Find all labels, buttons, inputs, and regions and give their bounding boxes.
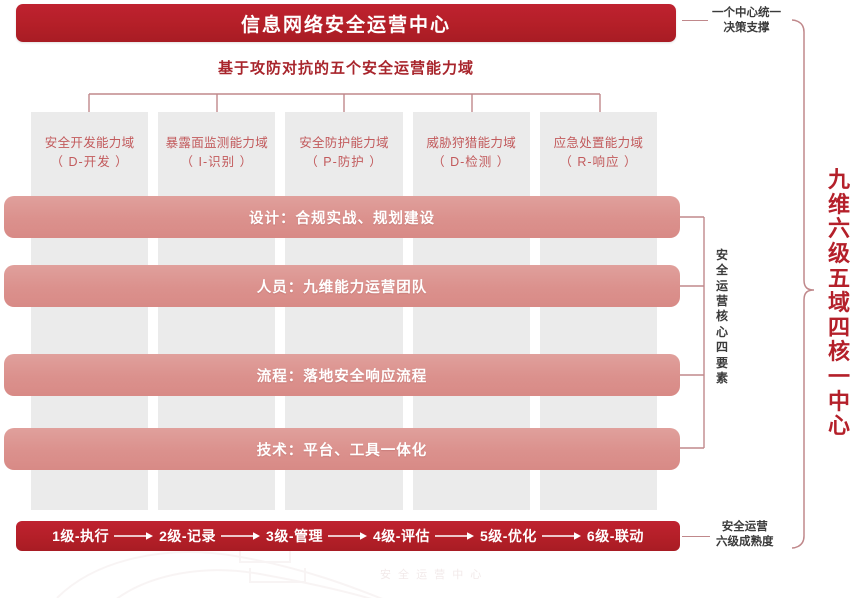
watermark-text: 安 全 运 营 中 心 [380,566,483,582]
center-connector-line [682,20,708,21]
core-elements-bracket [678,190,712,460]
column-name: 威胁狩猎能力域 [426,136,516,150]
column-code: （ P-防护 ） [285,153,402,172]
column-title: 威胁狩猎能力域 （ D-检测 ） [413,134,530,172]
arrow-icon [221,531,261,541]
core-elements-label: 安全运营核心四要素 [712,248,732,386]
maturity-level-4[interactable]: 4级-评估 [373,526,430,546]
maturity-level-5[interactable]: 5级-优化 [480,526,537,546]
maturity-level-1[interactable]: 1级-执行 [52,526,109,546]
column-title: 暴露面监测能力域 （ I-识别 ） [158,134,275,172]
column-code: （ D-开发 ） [31,153,148,172]
core-element-bar-technology[interactable]: 技术：平台、工具一体化 [4,428,680,470]
column-name: 安全防护能力域 [299,136,389,150]
maturity-level-2[interactable]: 2级-记录 [159,526,216,546]
maturity-connector-line [682,536,710,537]
columns-bracket [0,88,865,114]
arrow-icon [542,531,582,541]
arrow-icon [114,531,154,541]
maturity-bar: 1级-执行 2级-记录 3级-管理 4级-评估 5级-优化 6级-联动 [16,521,680,551]
column-name: 安全开发能力域 [45,136,135,150]
column-code: （ D-检测 ） [413,153,530,172]
maturity-annotation-line1: 安全运营 [716,520,774,535]
column-code: （ R-响应 ） [540,153,657,172]
core-element-bar-process[interactable]: 流程：落地安全响应流程 [4,354,680,396]
column-name: 暴露面监测能力域 [166,136,268,150]
maturity-level-3[interactable]: 3级-管理 [266,526,323,546]
diagram-canvas: 安 全 运 营 中 心 信息网络安全运营中心 基于攻防对抗的五个安全运营能力域 … [0,0,865,598]
maturity-level-6[interactable]: 6级-联动 [587,526,644,546]
center-annotation: 一个中心统一 决策支撑 [712,6,781,36]
column-title: 应急处置能力域 （ R-响应 ） [540,134,657,172]
column-code: （ I-识别 ） [158,153,275,172]
center-annotation-line1: 一个中心统一 [712,6,781,21]
arrow-icon [328,531,368,541]
maturity-annotation: 安全运营 六级成熟度 [716,520,774,550]
subtitle: 基于攻防对抗的五个安全运营能力域 [16,57,676,78]
maturity-annotation-line2: 六级成熟度 [716,535,774,550]
arrow-icon [435,531,475,541]
core-element-bar-design[interactable]: 设计：合规实战、规划建设 [4,196,680,238]
grand-brace [788,18,822,558]
column-name: 应急处置能力域 [554,136,644,150]
center-annotation-line2: 决策支撑 [712,21,781,36]
grand-label: 九维六级五域四核一中心 [826,168,852,439]
column-title: 安全开发能力域 （ D-开发 ） [31,134,148,172]
page-title: 信息网络安全运营中心 [16,4,676,42]
core-element-bar-people[interactable]: 人员：九维能力运营团队 [4,265,680,307]
column-title: 安全防护能力域 （ P-防护 ） [285,134,402,172]
